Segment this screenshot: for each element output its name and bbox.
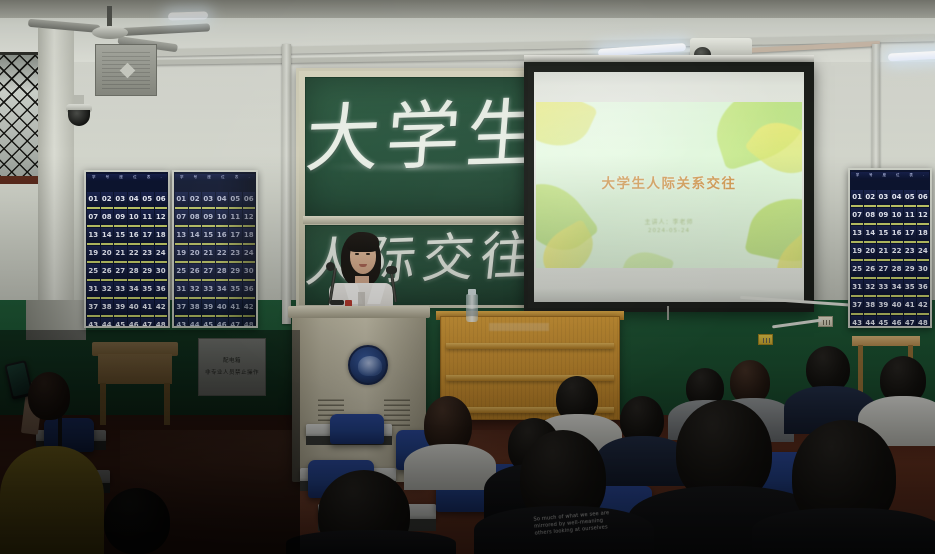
university-emblem-icon (348, 345, 388, 385)
seat-number-cell: 46 (128, 318, 141, 328)
seat-number-cell: 25 (87, 264, 100, 281)
seat-number-cell: 39 (877, 298, 889, 315)
lectern-top (288, 306, 430, 318)
seat-chart-header-cell: 号 (106, 175, 110, 180)
seat-number-cell: 16 (128, 228, 141, 245)
presenter-eye (355, 253, 359, 255)
seat-chart-header-cell: · (249, 176, 250, 180)
seat-number-cell: 05 (904, 190, 916, 207)
seat-number-cell: 27 (877, 262, 889, 279)
seat-number-cell: 39 (114, 300, 127, 317)
seat-chart-header: 学号座位表· (87, 174, 167, 181)
presenter-hair (347, 232, 379, 252)
cabinet-label-line-2: 非专业人员禁止操作 (199, 369, 265, 378)
bottle-label (466, 309, 478, 316)
seat-number-cell: 14 (864, 226, 876, 243)
seat-number-cell: 12 (917, 208, 929, 225)
bottle-cap (468, 289, 476, 295)
seat-number-cell: 39 (202, 300, 215, 317)
seat-number-cell: 21 (202, 246, 215, 263)
seat-number-cell: 43 (851, 316, 863, 328)
seat-chart-header-cell: 座 (119, 175, 123, 180)
seat-number-cell: 01 (175, 192, 188, 209)
student-shoulders-foreground (752, 508, 935, 554)
seat-number-cell: 06 (243, 192, 256, 209)
student-head-foreground (104, 488, 170, 554)
seat-number-cell: 11 (141, 210, 154, 227)
seat-number-cell: 29 (904, 262, 916, 279)
seat-number-cell: 46 (891, 316, 903, 328)
seat-number-cell: 09 (877, 208, 889, 225)
table-leg (164, 383, 170, 425)
seat-chart-header-cell: 位 (221, 175, 225, 180)
seat-number-cell: 44 (189, 318, 202, 328)
seat-number-cell: 24 (917, 244, 929, 261)
seat-number-cell: 05 (229, 192, 242, 209)
microphone-base (330, 300, 344, 305)
seat-number-cell: 21 (877, 244, 889, 261)
seat-number-cell: 22 (128, 246, 141, 263)
slide-leaf-decoration (620, 245, 675, 268)
seat-number-cell: 17 (141, 228, 154, 245)
seat-number-cell: 30 (243, 264, 256, 281)
seat-chart-header-cell: 号 (194, 175, 198, 180)
wooden-table-left-body (98, 354, 172, 384)
seat-number-cell: 11 (229, 210, 242, 227)
window-grille-icon (0, 55, 39, 177)
seat-number-cell: 18 (917, 226, 929, 243)
slide-date: 2024-05-24 (536, 228, 802, 234)
seat-number-cell: 34 (891, 280, 903, 297)
seat-number-chart-right: 学号座位表·0102030405060708091011121314151617… (848, 168, 932, 328)
seat-number-cell: 22 (891, 244, 903, 261)
seat-number-cell: 25 (175, 264, 188, 281)
seat-number-cell: 23 (904, 244, 916, 261)
seat-number-cell: 01 (851, 190, 863, 207)
seat-number-cell: 10 (216, 210, 229, 227)
seat-number-cell: 26 (189, 264, 202, 281)
slide-subtitle: 主讲人：李老师 (536, 217, 802, 226)
seat-number-cell: 01 (87, 192, 100, 209)
seat-number-cell: 37 (87, 300, 100, 317)
seat-number-cell: 42 (917, 298, 929, 315)
seat-number-cell: 36 (917, 280, 929, 297)
seat-number-cell: 06 (917, 190, 929, 207)
seat-number-cell: 17 (229, 228, 242, 245)
seat-number-cell: 45 (877, 316, 889, 328)
seat-number-cell: 16 (216, 228, 229, 245)
seat-chart-header-cell: 座 (207, 175, 211, 180)
seat-number-cell: 20 (189, 246, 202, 263)
seat-number-cell: 33 (114, 282, 127, 299)
seat-number-cell: 04 (891, 190, 903, 207)
seat-number-cell: 35 (229, 282, 242, 299)
seat-chart-header-cell: 位 (133, 175, 137, 180)
seat-number-cell: 23 (229, 246, 242, 263)
seat-number-cell: 22 (216, 246, 229, 263)
seat-chart-header-cell: 号 (869, 173, 873, 178)
cabinet-shelf-rail (446, 343, 614, 349)
seat-number-cell: 15 (202, 228, 215, 245)
seat-number-cell: 38 (189, 300, 202, 317)
seat-number-cell: 21 (114, 246, 127, 263)
seat-number-cell: 08 (864, 208, 876, 225)
screen-pull-cord (667, 306, 669, 320)
wall-column (38, 28, 74, 328)
seat-number-cell: 33 (877, 280, 889, 297)
seat-number-cell: 02 (864, 190, 876, 207)
seat-number-cell: 41 (229, 300, 242, 317)
seat-number-cell: 34 (128, 282, 141, 299)
seat-number-cell: 13 (175, 228, 188, 245)
seat-number-cell: 36 (155, 282, 168, 299)
seat-number-cell: 30 (155, 264, 168, 281)
chalk-ledge (303, 216, 539, 224)
seat-number-cell: 12 (155, 210, 168, 227)
seat-chart-header: 学号座位表· (851, 172, 929, 179)
classroom-photo: 大学生 人际交往 大学生人际关系交往 主讲人：李老师 2024-05-24 (0, 0, 935, 554)
seat-number-cell: 07 (851, 208, 863, 225)
seat-number-cell: 29 (141, 264, 154, 281)
seat-number-cell: 32 (189, 282, 202, 299)
seat-number-cell: 40 (216, 300, 229, 317)
seat-number-cell: 20 (864, 244, 876, 261)
seat-number-cell: 45 (202, 318, 215, 328)
seat-number-cell: 44 (101, 318, 114, 328)
projection-screen-surface: 大学生人际关系交往 主讲人：李老师 2024-05-24 (534, 72, 804, 302)
seat-number-cell: 04 (128, 192, 141, 209)
seat-number-cell: 40 (891, 298, 903, 315)
seat-number-cell: 47 (229, 318, 242, 328)
seat-number-cell: 12 (243, 210, 256, 227)
seat-number-cell: 26 (101, 264, 114, 281)
cabinet-label-line-1: 配电箱 (199, 357, 265, 366)
student-shoulders (404, 444, 496, 490)
seat-chart-header-cell: · (161, 176, 162, 180)
seat-chart-header-cell: 学 (856, 173, 860, 178)
seat-chart-header-cell: · (923, 174, 924, 178)
seat-number-cell: 24 (155, 246, 168, 263)
seat-number-cell: 35 (904, 280, 916, 297)
electrical-cabinet: 配电箱 非专业人员禁止操作 (198, 338, 266, 396)
seat-number-cell: 23 (141, 246, 154, 263)
seat-number-cell: 43 (175, 318, 188, 328)
seat-number-cell: 44 (864, 316, 876, 328)
seat-number-cell: 18 (155, 228, 168, 245)
seat-chart-header: 学号座位表· (175, 174, 255, 181)
seat-number-cell: 37 (175, 300, 188, 317)
window (0, 52, 42, 180)
seat-number-cell: 19 (87, 246, 100, 263)
seat-number-cell: 27 (202, 264, 215, 281)
seat-number-cell: 24 (243, 246, 256, 263)
blackboard-upper-panel: 大学生 (305, 77, 537, 217)
ceiling-beam (0, 0, 935, 18)
seat-number-cell: 31 (175, 282, 188, 299)
seat-number-cell: 15 (114, 228, 127, 245)
blackboard-chalk-line-2: 人际交往 (305, 230, 537, 290)
seat-number-cell: 05 (141, 192, 154, 209)
seat-number-cell: 19 (175, 246, 188, 263)
seat-number-cell: 09 (114, 210, 127, 227)
student-shoulders-foreground (286, 530, 456, 554)
lectern-vent-icon (384, 396, 410, 426)
seat-number-cell: 17 (904, 226, 916, 243)
seat-number-cell: 32 (864, 280, 876, 297)
seat-number-cell: 03 (202, 192, 215, 209)
student-head (28, 372, 70, 420)
seat-number-cell: 25 (851, 262, 863, 279)
seat-number-cell: 06 (155, 192, 168, 209)
seat-number-cell: 47 (904, 316, 916, 328)
seat-number-cell: 35 (141, 282, 154, 299)
seat-number-cell: 16 (891, 226, 903, 243)
seat-number-cell: 27 (114, 264, 127, 281)
slide-title: 大学生人际关系交往 (536, 172, 802, 192)
seat-number-cell: 13 (851, 226, 863, 243)
seat-number-cell: 37 (851, 298, 863, 315)
ceiling-fan-hub (92, 26, 128, 39)
seat-chart-header-cell: 位 (896, 173, 900, 178)
seat-number-cell: 03 (877, 190, 889, 207)
seat-number-cell: 41 (904, 298, 916, 315)
seat-number-cell: 36 (243, 282, 256, 299)
seat-number-cell: 07 (87, 210, 100, 227)
seat-number-cell: 45 (114, 318, 127, 328)
presentation-slide: 大学生人际关系交往 主讲人：李老师 2024-05-24 (536, 102, 802, 268)
seat-number-cell: 48 (155, 318, 168, 328)
seat-number-cell: 42 (155, 300, 168, 317)
cabinet-sign (489, 323, 549, 331)
seat-chart-header-cell: 表 (909, 173, 913, 178)
seat-number-cell: 40 (128, 300, 141, 317)
seat-chart-header-cell: 表 (235, 175, 239, 180)
seat-number-cell: 48 (917, 316, 929, 328)
table-leg (858, 345, 863, 393)
seat-number-cell: 31 (87, 282, 100, 299)
seat-chart-header-cell: 学 (92, 175, 96, 180)
seat-number-cell: 08 (101, 210, 114, 227)
seat-number-cell: 46 (216, 318, 229, 328)
seat-number-cell: 30 (917, 262, 929, 279)
seat-chart-header-cell: 座 (883, 173, 887, 178)
seat-number-cell: 02 (101, 192, 114, 209)
seat-number-cell: 34 (216, 282, 229, 299)
wall-column-base (26, 300, 86, 340)
presenter-eye (366, 253, 370, 255)
seat-number-cell: 41 (141, 300, 154, 317)
seat-number-cell: 28 (891, 262, 903, 279)
seat-number-cell: 02 (189, 192, 202, 209)
chalk-smudge (324, 164, 517, 170)
fluorescent-tube-light (168, 11, 208, 20)
slide-leaf-decoration (536, 102, 598, 158)
seat-number-cell: 28 (216, 264, 229, 281)
conduit-pipe-vertical-left (282, 44, 291, 324)
seat-chart-header-cell: 表 (147, 175, 151, 180)
seat-number-cell: 33 (202, 282, 215, 299)
seat-number-cell: 11 (904, 208, 916, 225)
seat-number-cell: 03 (114, 192, 127, 209)
seat-number-chart-left-a: 学号座位表·0102030405060708091011121314151617… (84, 170, 170, 328)
seat-number-cell: 31 (851, 280, 863, 297)
seat-number-cell: 19 (851, 244, 863, 261)
seat-number-cell: 08 (189, 210, 202, 227)
seat-number-cell: 26 (864, 262, 876, 279)
seat-number-cell: 07 (175, 210, 188, 227)
seat-number-cell: 42 (243, 300, 256, 317)
seat-number-cell: 32 (101, 282, 114, 299)
seat-number-cell: 47 (141, 318, 154, 328)
seat-number-cell: 29 (229, 264, 242, 281)
seat-number-cell: 09 (202, 210, 215, 227)
seat-number-cell: 48 (243, 318, 256, 328)
seat-number-cell: 28 (128, 264, 141, 281)
light-switch[interactable] (758, 334, 773, 345)
ceiling-fan-rod (107, 6, 112, 28)
seat-number-cell: 10 (891, 208, 903, 225)
microphone-icon (326, 262, 335, 271)
seat-number-cell: 38 (864, 298, 876, 315)
water-bottle (466, 294, 478, 322)
table-leg (100, 383, 106, 425)
seat-number-cell: 04 (216, 192, 229, 209)
wall-speaker (95, 44, 157, 96)
seat-number-cell: 10 (128, 210, 141, 227)
student-shoulders-yellow (0, 446, 104, 554)
seat-number-cell: 18 (243, 228, 256, 245)
seat-number-cell: 15 (877, 226, 889, 243)
seat-number-cell: 38 (101, 300, 114, 317)
projection-screen: 大学生人际关系交往 主讲人：李老师 2024-05-24 (524, 62, 814, 312)
seat-number-cell: 14 (189, 228, 202, 245)
seat-chart-header-cell: 学 (180, 175, 184, 180)
seat-number-cell: 20 (101, 246, 114, 263)
microphone-icon (386, 266, 397, 274)
seat-number-cell: 14 (101, 228, 114, 245)
seat-number-chart-left-b: 学号座位表·0102030405060708091011121314151617… (172, 170, 258, 328)
lecture-chair[interactable] (330, 414, 384, 444)
seat-number-cell: 13 (87, 228, 100, 245)
seat-number-cell: 43 (87, 318, 100, 328)
